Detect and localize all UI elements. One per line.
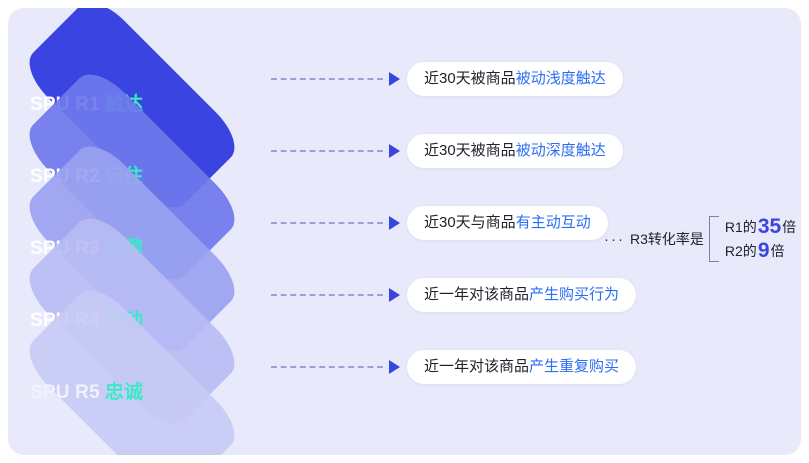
arrow-right-icon-r3 — [389, 216, 400, 230]
connector-dashed-line-r5 — [271, 366, 383, 368]
funnel-layer-r5[interactable]: SPU R5忠诚 — [8, 318, 256, 455]
definition-prefix-r2: 近30天被商品 — [424, 142, 516, 159]
annotation-row-value-r2: 9 — [757, 239, 771, 262]
definition-highlight-r2: 被动深度触达 — [516, 142, 606, 159]
arrow-right-icon-r5 — [389, 360, 400, 374]
annotation-dots: ··· — [604, 231, 625, 248]
annotation-row-suffix-r2: 倍 — [771, 243, 785, 259]
annotation-row-prefix-r2: R2的 — [725, 243, 757, 259]
definition-highlight-r1: 被动浅度触达 — [516, 70, 606, 87]
definition-pill-r2[interactable]: 近30天被商品被动深度触达 — [407, 134, 623, 168]
annotation-bracket-icon — [709, 216, 719, 262]
annotation-row-r2: R2的9倍 — [725, 239, 796, 263]
definition-prefix-r4: 近一年对该商品 — [424, 286, 529, 303]
definition-highlight-r3: 有主动互动 — [516, 214, 591, 231]
connector-dashed-line-r3 — [271, 222, 383, 224]
annotation-rows: R1的35倍 R2的9倍 — [725, 216, 796, 262]
annotation-row-prefix-r1: R1的 — [725, 219, 757, 235]
arrow-right-icon-r1 — [389, 72, 400, 86]
definition-pill-r5[interactable]: 近一年对该商品产生重复购买 — [407, 350, 636, 384]
definition-prefix-r5: 近一年对该商品 — [424, 358, 529, 375]
funnel-stack: SPU R1触达 SPU R2记住 SPU R3兴趣 SPU R4行动 SPU … — [8, 8, 328, 455]
arrow-right-icon-r2 — [389, 144, 400, 158]
definition-pill-r3[interactable]: 近30天与商品有主动互动 — [407, 206, 608, 240]
definition-highlight-r5: 产生重复购买 — [529, 358, 619, 375]
definition-pill-r1[interactable]: 近30天被商品被动浅度触达 — [407, 62, 623, 96]
connector-dashed-line-r4 — [271, 294, 383, 296]
funnel-layer-title-r5: SPU R5 — [30, 382, 100, 403]
diagram-canvas: SPU R1触达 SPU R2记住 SPU R3兴趣 SPU R4行动 SPU … — [8, 8, 801, 455]
definition-prefix-r3: 近30天与商品 — [424, 214, 516, 231]
connector-dashed-line-r2 — [271, 150, 383, 152]
connector-dashed-line-r1 — [271, 78, 383, 80]
funnel-layer-keyword-r5: 忠诚 — [105, 382, 143, 403]
definition-highlight-r4: 产生购买行为 — [529, 286, 619, 303]
annotation-row-suffix-r1: 倍 — [782, 219, 796, 235]
arrow-right-icon-r4 — [389, 288, 400, 302]
funnel-layer-caption-r5: SPU R5忠诚 — [8, 379, 256, 407]
annotation-lead-text: R3转化率是 — [630, 229, 704, 249]
definition-prefix-r1: 近30天被商品 — [424, 70, 516, 87]
annotation-row-value-r1: 35 — [757, 215, 782, 238]
conversion-annotation: ··· R3转化率是 R1的35倍 R2的9倍 — [604, 214, 796, 264]
annotation-row-r1: R1的35倍 — [725, 215, 796, 239]
definition-pill-r4[interactable]: 近一年对该商品产生购买行为 — [407, 278, 636, 312]
